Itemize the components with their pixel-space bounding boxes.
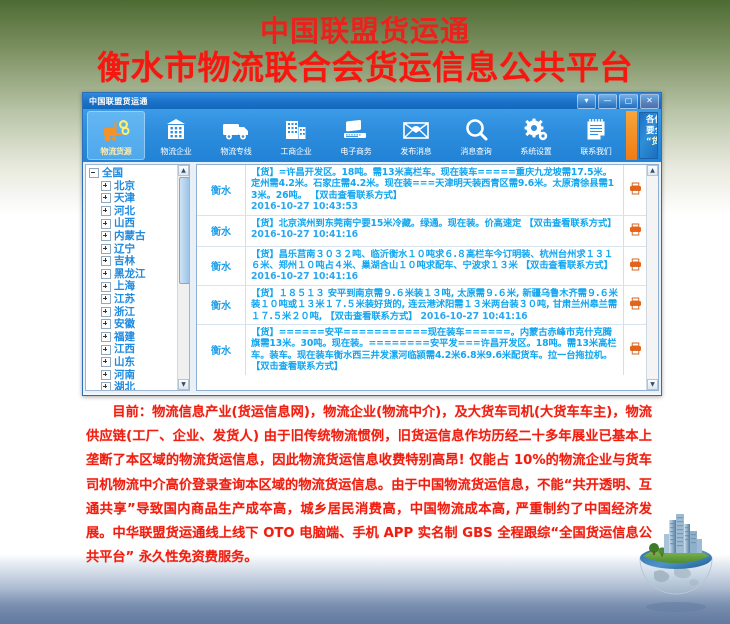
expand-toggle-icon[interactable] xyxy=(101,206,111,216)
expand-toggle-icon[interactable] xyxy=(101,357,111,367)
tree-node-hebei[interactable]: 河北 xyxy=(89,205,177,218)
region-tree: 全国 北京 天津 河北 山西 内蒙古 辽宁 吉林 黑龙江 上海 江苏 浙江 安徽… xyxy=(86,165,177,390)
toolbar-label: 物流企业 xyxy=(160,146,191,157)
expand-toggle-icon[interactable] xyxy=(101,244,111,254)
expand-toggle-icon[interactable] xyxy=(101,282,111,292)
printer-icon[interactable] xyxy=(629,221,642,240)
tree-node-label: 山东 xyxy=(114,356,135,369)
promo-banner[interactable]: 各位会员 要全方位测试 “货运通”功能! xyxy=(639,112,658,159)
expand-toggle-icon[interactable] xyxy=(101,256,111,266)
tree-node-label: 河北 xyxy=(114,205,135,218)
toolbar-label: 电子商务 xyxy=(340,146,371,157)
tree-node-jiangsu[interactable]: 江苏 xyxy=(89,293,177,306)
ecommerce-icon xyxy=(341,115,371,145)
toolbar-item-system-settings[interactable]: 系统设置 xyxy=(507,111,565,160)
row-message: 【货】昌乐莒南３０３２吨、临沂衡水１０吨求６.８高栏车今订明装、杭州台州求１３１… xyxy=(246,247,623,285)
expand-toggle-icon[interactable] xyxy=(101,269,111,279)
tree-node-label: 河南 xyxy=(114,369,135,382)
region-tree-panel: 全国 北京 天津 河北 山西 内蒙古 辽宁 吉林 黑龙江 上海 江苏 浙江 安徽… xyxy=(85,164,190,391)
tree-node-anhui[interactable]: 安徽 xyxy=(89,318,177,331)
tree-node-label: 山西 xyxy=(114,217,135,230)
scroll-up-icon[interactable]: ▲ xyxy=(647,165,658,176)
row-timestamp: 2016-10-27 10:41:16 xyxy=(421,311,528,322)
toolbar-item-business-enterprise[interactable]: 工商企业 xyxy=(267,111,325,160)
tree-node-label: 安徽 xyxy=(114,318,135,331)
printer-icon[interactable] xyxy=(629,180,642,199)
printer-icon[interactable] xyxy=(629,295,642,314)
toolbar-label: 系统设置 xyxy=(520,146,551,157)
table-row[interactable]: 衡水 【货】昌乐莒南３０３２吨、临沂衡水１０吨求６.８高栏车今订明装、杭州台州求… xyxy=(197,247,646,286)
tree-node-label: 内蒙古 xyxy=(114,230,146,243)
expand-toggle-icon[interactable] xyxy=(101,307,111,317)
window-title: 中国联盟货运通 xyxy=(89,96,148,107)
toolbar-label: 消息查询 xyxy=(460,146,491,157)
row-city: 衡水 xyxy=(197,216,246,246)
window-titlebar: 中国联盟货运通 ▾ — ▢ ✕ xyxy=(83,93,661,109)
tree-node-liaoning[interactable]: 辽宁 xyxy=(89,243,177,256)
tree-node-label: 上海 xyxy=(114,280,135,293)
tree-node-tianjin[interactable]: 天津 xyxy=(89,192,177,205)
dropdown-icon[interactable]: ▾ xyxy=(577,94,596,109)
expand-toggle-icon[interactable] xyxy=(101,231,111,241)
row-message-text: 【货】北京滨州到东莞南宁要15米冷藏。绿通。现在装。价高速定 【双击查看联系方式… xyxy=(251,218,616,229)
article-body: 目前：物流信息产业(货运信息网)，物流企业(物流中介)，及大货车司机(大货车车主… xyxy=(86,401,652,570)
tree-node-shandong[interactable]: 山东 xyxy=(89,356,177,369)
message-list: 衡水 【货】=许昌开发区。18吨。需13米高栏车。现在装车=====重庆九龙坡需… xyxy=(197,165,646,390)
toolbar-item-message-query[interactable]: 消息查询 xyxy=(447,111,505,160)
row-timestamp: 2016-10-27 10:41:16 xyxy=(251,229,358,240)
toolbar-item-cargo-source[interactable]: 物流货源 xyxy=(87,111,145,160)
tree-node-label: 北京 xyxy=(114,180,135,193)
toolbar-item-ecommerce[interactable]: 电子商务 xyxy=(327,111,385,160)
expand-toggle-icon[interactable] xyxy=(101,345,111,355)
row-message-text: 【货】======安平===========现在装车======。内蒙古赤峰市克… xyxy=(251,327,616,372)
tree-node-zhejiang[interactable]: 浙江 xyxy=(89,306,177,319)
close-button[interactable]: ✕ xyxy=(640,94,659,109)
headline-line-2: 衡水市物流联合会货运信息公共平台 xyxy=(0,48,730,88)
row-message: 【货】=许昌开发区。18吨。需13米高栏车。现在装车=====重庆九龙坡需17.… xyxy=(246,165,623,215)
expand-toggle-icon[interactable] xyxy=(101,294,111,304)
tree-node-hubei[interactable]: 湖北 xyxy=(89,381,177,390)
table-row[interactable]: 衡水 【货】北京滨州到东莞南宁要15米冷藏。绿通。现在装。价高速定 【双击查看联… xyxy=(197,216,646,247)
message-list-panel: 衡水 【货】=许昌开发区。18吨。需13米高栏车。现在装车=====重庆九龙坡需… xyxy=(196,164,659,391)
row-message-text: 【货】=许昌开发区。18吨。需13米高栏车。现在装车=====重庆九龙坡需17.… xyxy=(251,167,614,201)
minimize-button[interactable]: — xyxy=(598,94,617,109)
window-controls: ▾ — ▢ ✕ xyxy=(577,93,659,109)
scroll-down-icon[interactable]: ▼ xyxy=(178,379,189,390)
row-action[interactable] xyxy=(623,325,646,375)
tree-node-label: 浙江 xyxy=(114,306,135,319)
row-message: 【货】北京滨州到东莞南宁要15米冷藏。绿通。现在装。价高速定 【双击查看联系方式… xyxy=(246,216,623,246)
tree-node-jilin[interactable]: 吉林 xyxy=(89,255,177,268)
collapse-toggle-icon[interactable] xyxy=(89,168,99,178)
expand-toggle-icon[interactable] xyxy=(101,382,111,390)
toolbar-label: 工商企业 xyxy=(280,146,311,157)
tree-scrollbar[interactable]: ▲ ▼ xyxy=(177,165,189,390)
expand-toggle-icon[interactable] xyxy=(101,332,111,342)
tree-node-label: 辽宁 xyxy=(114,243,135,256)
notepad-icon xyxy=(583,115,609,145)
expand-toggle-icon[interactable] xyxy=(101,219,111,229)
tree-node-fujian[interactable]: 福建 xyxy=(89,331,177,344)
toolbar-item-contact-us[interactable]: 联系我们 xyxy=(567,111,625,160)
tree-node-label: 吉林 xyxy=(114,255,135,268)
building-icon xyxy=(163,115,189,145)
application-window: 中国联盟货运通 ▾ — ▢ ✕ 物流货源 xyxy=(82,92,662,396)
tree-node-jiangxi[interactable]: 江西 xyxy=(89,343,177,356)
printer-icon[interactable] xyxy=(629,340,642,359)
row-city: 衡水 xyxy=(197,247,246,285)
row-city: 衡水 xyxy=(197,165,246,215)
scroll-down-icon[interactable]: ▼ xyxy=(647,379,658,390)
tree-node-heilongjiang[interactable]: 黑龙江 xyxy=(89,268,177,281)
expand-toggle-icon[interactable] xyxy=(101,319,111,329)
office-building-icon xyxy=(282,115,310,145)
tree-node-root[interactable]: 全国 xyxy=(89,167,177,180)
gear-icon xyxy=(522,115,550,145)
toolbar-label: 联系我们 xyxy=(580,146,611,157)
tree-node-shanghai[interactable]: 上海 xyxy=(89,280,177,293)
toolbar-label: 物流货源 xyxy=(100,146,131,157)
table-row[interactable]: 衡水 【货】=许昌开发区。18吨。需13米高栏车。现在装车=====重庆九龙坡需… xyxy=(197,165,646,216)
list-scrollbar[interactable]: ▲ ▼ xyxy=(646,165,658,390)
tree-node-label: 天津 xyxy=(114,192,135,205)
row-city: 衡水 xyxy=(197,286,246,324)
tree-node-label: 全国 xyxy=(102,167,123,180)
maximize-button[interactable]: ▢ xyxy=(619,94,638,109)
tree-node-henan[interactable]: 河南 xyxy=(89,369,177,382)
forklift-icon xyxy=(101,115,131,145)
table-row[interactable]: 衡水 【货】======安平===========现在装车======。内蒙古赤… xyxy=(197,325,646,375)
row-message: 【货】======安平===========现在装车======。内蒙古赤峰市克… xyxy=(246,325,623,375)
printer-icon[interactable] xyxy=(629,256,642,275)
row-message-text: 【货】昌乐莒南３０３２吨、临沂衡水１０吨求６.８高栏车今订明装、杭州台州求１３１… xyxy=(251,249,613,271)
headline-line-1: 中国联盟货运通 xyxy=(0,14,730,48)
page-title: 中国联盟货运通 衡水市物流联合会货运信息公共平台 xyxy=(0,14,730,88)
expand-toggle-icon[interactable] xyxy=(101,370,111,380)
tree-node-label: 黑龙江 xyxy=(114,268,146,281)
expand-toggle-icon[interactable] xyxy=(101,181,111,191)
row-action[interactable] xyxy=(623,247,646,285)
tree-node-beijing[interactable]: 北京 xyxy=(89,180,177,193)
scrollbar-thumb[interactable] xyxy=(179,177,190,284)
tree-node-label: 湖北 xyxy=(114,381,135,390)
envelope-icon xyxy=(401,115,431,145)
toolbar-item-logistics-company[interactable]: 物流企业 xyxy=(147,111,205,160)
scroll-up-icon[interactable]: ▲ xyxy=(178,165,189,176)
expand-toggle-icon[interactable] xyxy=(101,193,111,203)
row-message: 【货】１８５１３ 安平到南京需９.６米装１３吨, 太原需９.６米, 新疆乌鲁木齐… xyxy=(246,286,623,324)
search-icon xyxy=(462,115,490,145)
truck-icon xyxy=(221,115,251,145)
tree-node-label: 福建 xyxy=(114,331,135,344)
toolbar-item-publish-message[interactable]: 发布消息 xyxy=(387,111,445,160)
table-row[interactable]: 衡水 【货】１８５１３ 安平到南京需９.６米装１３吨, 太原需９.６米, 新疆乌… xyxy=(197,286,646,325)
promo-wave-decoration xyxy=(639,112,658,159)
row-action[interactable] xyxy=(623,216,646,246)
toolbar-label: 物流专线 xyxy=(220,146,251,157)
tree-node-neimenggu[interactable]: 内蒙古 xyxy=(89,230,177,243)
toolbar-label: 发布消息 xyxy=(400,146,431,157)
toolbar: 物流货源 物流企业 xyxy=(83,109,661,162)
row-timestamp: 2016-10-27 10:41:16 xyxy=(251,271,358,282)
tree-node-label: 江苏 xyxy=(114,293,135,306)
window-body: 全国 北京 天津 河北 山西 内蒙古 辽宁 吉林 黑龙江 上海 江苏 浙江 安徽… xyxy=(83,162,661,393)
row-city: 衡水 xyxy=(197,325,246,375)
row-action[interactable] xyxy=(623,165,646,215)
toolbar-item-dedicated-line[interactable]: 物流专线 xyxy=(207,111,265,160)
row-action[interactable] xyxy=(623,286,646,324)
row-timestamp: 2016-10-27 10:43:53 xyxy=(251,201,358,212)
tree-node-shanxi[interactable]: 山西 xyxy=(89,217,177,230)
toolbar-orange-divider xyxy=(626,111,637,160)
article-paragraph: 目前：物流信息产业(货运信息网)，物流企业(物流中介)，及大货车司机(大货车车主… xyxy=(86,401,652,570)
tree-node-label: 江西 xyxy=(114,343,135,356)
